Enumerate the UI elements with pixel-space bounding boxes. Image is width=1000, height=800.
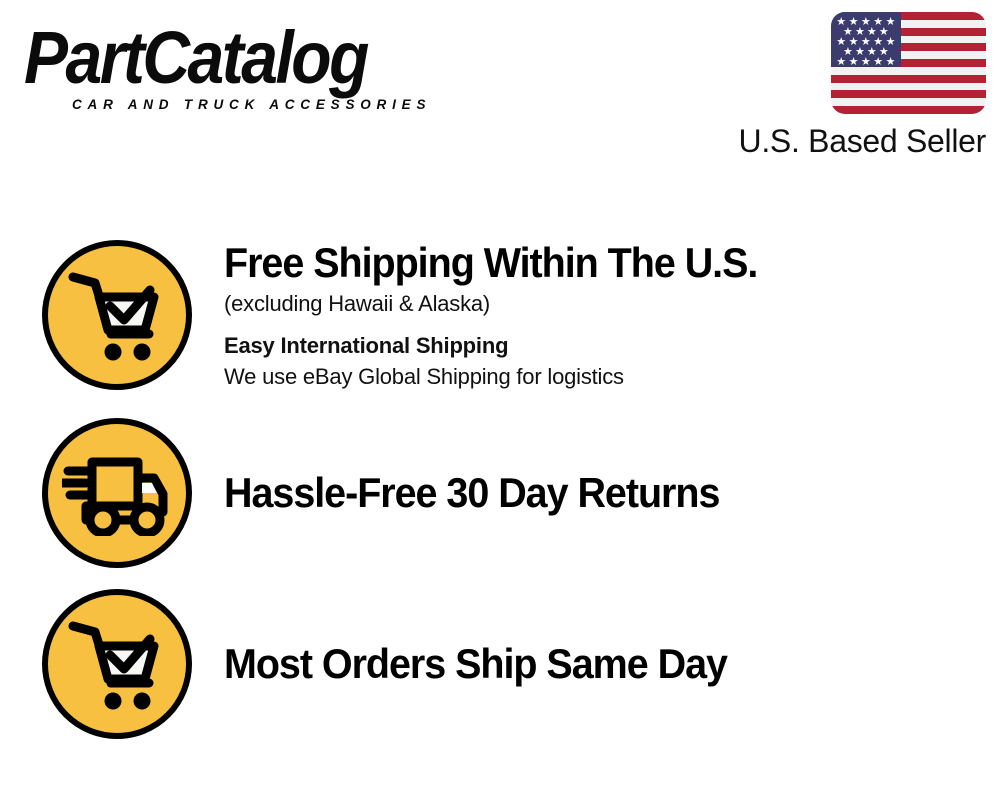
feature-row: Most Orders Ship Same Day (0, 589, 1000, 739)
feature-title: Most Orders Ship Same Day (224, 639, 935, 689)
delivery-truck-icon (42, 418, 192, 568)
star-icon: ★ (849, 57, 859, 67)
flag-stripe (831, 106, 986, 114)
shopping-cart-check-icon (42, 589, 192, 739)
feature-subtitle: We use eBay Global Shipping for logistic… (224, 362, 980, 392)
star-icon: ★ (873, 57, 883, 67)
star-icon: ★ (886, 57, 896, 67)
flag-stripe (831, 98, 986, 106)
feature-subtitle: (excluding Hawaii & Alaska) (224, 289, 980, 319)
us-based-seller-label: U.S. Based Seller (726, 123, 986, 160)
feature-text: Most Orders Ship Same Day (224, 639, 1000, 689)
us-flag-icon: ★ ★ ★ ★ ★ ★ ★ ★ ★ ★ ★ ★ (831, 12, 986, 114)
feature-title: Free Shipping Within The U.S. (224, 238, 935, 288)
feature-text: Hassle-Free 30 Day Returns (224, 468, 1000, 518)
flag-stripe (831, 67, 986, 75)
feature-text: Free Shipping Within The U.S. (excluding… (224, 238, 1000, 392)
flag-stripe (831, 90, 986, 98)
brand-wordmark: PartCatalog (24, 18, 494, 96)
flag-stripe (831, 75, 986, 83)
star-icon: ★ (861, 57, 871, 67)
feature-row: Free Shipping Within The U.S. (excluding… (0, 238, 1000, 392)
flag-canton: ★ ★ ★ ★ ★ ★ ★ ★ ★ ★ ★ ★ (831, 12, 901, 67)
flag-star-row: ★ ★ ★ ★ ★ (835, 57, 897, 67)
header: PartCatalog CAR AND TRUCK ACCESSORIES (0, 0, 1000, 180)
feature-subtitle: Easy International Shipping (224, 331, 980, 361)
feature-row: Hassle-Free 30 Day Returns (0, 418, 1000, 568)
promo-banner: PartCatalog CAR AND TRUCK ACCESSORIES (0, 0, 1000, 800)
brand-logo: PartCatalog CAR AND TRUCK ACCESSORIES (24, 18, 494, 114)
flag-stripe (831, 83, 986, 91)
us-based-seller-badge: ★ ★ ★ ★ ★ ★ ★ ★ ★ ★ ★ ★ (726, 12, 986, 160)
shopping-cart-check-icon (42, 240, 192, 390)
feature-title: Hassle-Free 30 Day Returns (224, 468, 935, 518)
brand-tagline: CAR AND TRUCK ACCESSORIES (72, 97, 494, 112)
star-icon: ★ (836, 57, 846, 67)
